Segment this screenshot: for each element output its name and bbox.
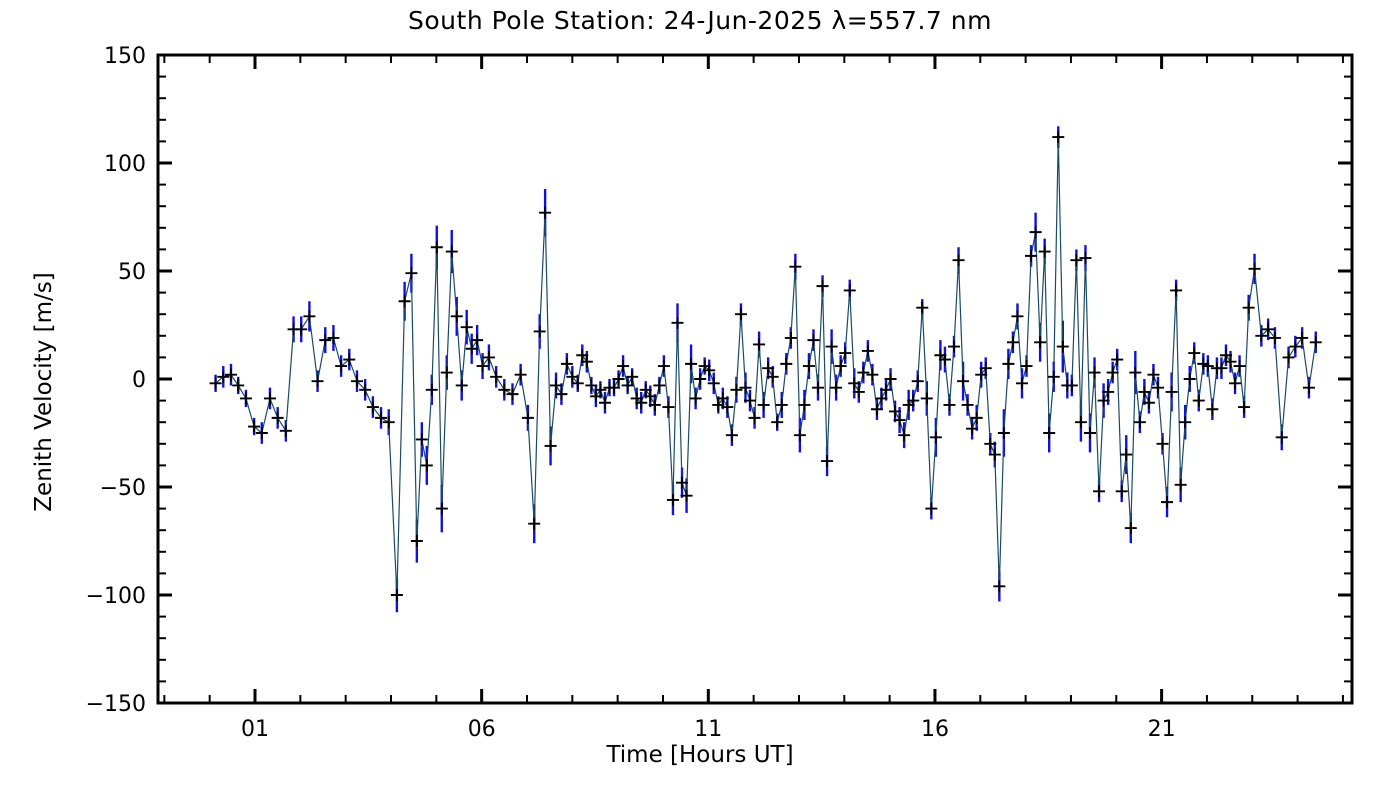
data-point-marker [1238, 401, 1250, 413]
data-point-marker [534, 325, 546, 337]
data-point-marker [685, 358, 697, 370]
data-point-marker [1007, 336, 1019, 348]
data-point-marker [240, 392, 252, 404]
x-tick-label: 01 [241, 717, 269, 742]
data-point-marker [1125, 522, 1137, 534]
data-point-marker [1057, 341, 1069, 353]
data-point-marker [912, 375, 924, 387]
data-line [216, 137, 1316, 595]
data-point-marker [477, 360, 489, 372]
data-point-marker [416, 433, 428, 445]
data-point-marker [555, 388, 567, 400]
data-point-marker [830, 382, 842, 394]
data-point-marker [1161, 496, 1173, 508]
axis-tick-labels: 0106111621−150−100−50050100150 [86, 44, 1176, 742]
data-point-marker [319, 334, 331, 346]
data-point-marker [528, 518, 540, 530]
data-point-marker [391, 589, 403, 601]
data-point-marker [1002, 358, 1014, 370]
data-point-marker [1116, 485, 1128, 497]
data-point-marker [925, 503, 937, 515]
data-point-marker [545, 440, 557, 452]
data-point-marker [335, 360, 347, 372]
data-point-marker [694, 373, 706, 385]
data-point-marker [957, 375, 969, 387]
data-point-marker [1089, 367, 1101, 379]
data-point-marker [1243, 302, 1255, 314]
data-point-marker [483, 351, 495, 363]
data-point-marker [225, 369, 237, 381]
data-point-marker [1175, 479, 1187, 491]
errorbar-layer [216, 126, 1316, 612]
data-point-marker [735, 308, 747, 320]
data-point-marker [749, 412, 761, 424]
data-point-marker [803, 360, 815, 372]
data-point-marker [599, 397, 611, 409]
data-point-marker [667, 494, 679, 506]
data-point-marker [471, 334, 483, 346]
data-point-marker [948, 341, 960, 353]
data-point-marker [866, 369, 878, 381]
data-point-marker [446, 246, 458, 258]
data-point-marker [1016, 377, 1028, 389]
y-tick-label: −150 [86, 692, 146, 717]
data-point-marker [943, 399, 955, 411]
chart-screenshot: South Pole Station: 24-Jun-2025 λ=557.7 … [0, 0, 1400, 800]
data-point-marker [726, 429, 738, 441]
data-point-marker [1179, 416, 1191, 428]
data-point-marker [916, 302, 928, 314]
x-tick-label: 21 [1148, 717, 1176, 742]
data-point-marker [1188, 347, 1200, 359]
plot-frame [158, 55, 1352, 703]
data-point-marker [312, 375, 324, 387]
data-point-marker [662, 401, 674, 413]
data-point-marker [794, 429, 806, 441]
data-point-marker [1157, 438, 1169, 450]
data-point-marker [1303, 382, 1315, 394]
data-point-marker [1206, 403, 1218, 415]
data-point-marker [785, 332, 797, 344]
data-point-marker [426, 384, 438, 396]
data-point-marker [1084, 427, 1096, 439]
data-point-marker [1120, 449, 1132, 461]
data-point-marker [1184, 373, 1196, 385]
data-point-marker [272, 412, 284, 424]
data-point-marker [1269, 332, 1281, 344]
data-point-marker [789, 261, 801, 273]
y-tick-label: −100 [86, 584, 146, 609]
data-point-marker [461, 321, 473, 333]
x-tick-label: 16 [921, 717, 949, 742]
data-point-marker [862, 345, 874, 357]
data-point-marker [690, 392, 702, 404]
data-point-marker [1079, 252, 1091, 264]
data-point-marker [1070, 254, 1082, 266]
data-point-marker [522, 412, 534, 424]
data-point-marker [1075, 416, 1087, 428]
data-point-marker [367, 401, 379, 413]
data-point-marker [807, 334, 819, 346]
data-point-marker [817, 280, 829, 292]
data-point-marker [1166, 386, 1178, 398]
data-point-marker [1129, 367, 1141, 379]
data-point-marker [1229, 377, 1241, 389]
data-point-marker [1011, 310, 1023, 322]
data-point-marker [1025, 250, 1037, 262]
data-point-marker [821, 455, 833, 467]
data-point-marker [1193, 395, 1205, 407]
data-point-marker [451, 310, 463, 322]
data-point-marker [550, 379, 562, 391]
y-tick-label: −50 [100, 476, 146, 501]
data-point-marker [617, 360, 629, 372]
data-point-marker [1289, 341, 1301, 353]
x-tick-label: 06 [468, 717, 496, 742]
data-point-marker [466, 343, 478, 355]
data-point-marker [826, 341, 838, 353]
data-point-marker [1310, 336, 1322, 348]
y-tick-label: 50 [118, 260, 146, 285]
data-point-marker [232, 379, 244, 391]
data-point-marker [405, 267, 417, 279]
data-point-marker [1093, 485, 1105, 497]
data-point-marker [671, 317, 683, 329]
data-point-marker [421, 459, 433, 471]
data-point-marker [441, 367, 453, 379]
data-point-marker [753, 338, 765, 350]
data-point-marker [930, 431, 942, 443]
data-point-marker [561, 358, 573, 370]
data-point-marker [539, 207, 551, 219]
data-point-marker [857, 367, 869, 379]
axes-box [158, 55, 1352, 703]
data-point-marker [780, 358, 792, 370]
data-point-marker [998, 427, 1010, 439]
y-tick-label: 0 [132, 368, 146, 393]
data-point-marker [303, 310, 315, 322]
data-point-marker [1276, 431, 1288, 443]
data-point-marker [962, 399, 974, 411]
data-point-marker [1034, 336, 1046, 348]
data-markers [210, 131, 1322, 601]
data-point-marker [327, 332, 339, 344]
data-point-marker [264, 392, 276, 404]
data-point-marker [436, 503, 448, 515]
data-point-marker [399, 295, 411, 307]
data-point-marker [295, 323, 307, 335]
data-point-marker [758, 399, 770, 411]
y-tick-label: 150 [104, 44, 146, 69]
data-point-marker [1030, 226, 1042, 238]
data-point-marker [1039, 246, 1051, 258]
data-point-marker [771, 416, 783, 428]
data-point-marker [515, 369, 527, 381]
data-point-marker [658, 360, 670, 372]
data-point-marker [490, 371, 502, 383]
data-point-marker [1043, 427, 1055, 439]
data-point-marker [431, 241, 443, 253]
data-point-marker [730, 384, 742, 396]
data-point-marker [953, 254, 965, 266]
y-tick-label: 100 [104, 152, 146, 177]
data-point-marker [1052, 131, 1064, 143]
data-point-marker [812, 382, 824, 394]
data-point-marker [1249, 263, 1261, 275]
data-polyline [216, 137, 1316, 595]
data-point-marker [993, 580, 1005, 592]
data-point-marker [1134, 416, 1146, 428]
data-point-marker [776, 399, 788, 411]
data-point-marker [280, 425, 292, 437]
data-point-marker [653, 379, 665, 391]
x-tick-label: 11 [694, 717, 722, 742]
data-point-marker [921, 392, 933, 404]
data-point-marker [1170, 284, 1182, 296]
data-point-marker [411, 535, 423, 547]
data-point-marker [343, 354, 355, 366]
data-point-marker [1048, 371, 1060, 383]
data-point-marker [456, 379, 468, 391]
data-point-marker [1296, 332, 1308, 344]
plot-canvas: 0106111621−150−100−50050100150 [0, 0, 1400, 800]
data-point-marker [798, 399, 810, 411]
data-point-marker [844, 284, 856, 296]
data-point-marker [1283, 351, 1295, 363]
